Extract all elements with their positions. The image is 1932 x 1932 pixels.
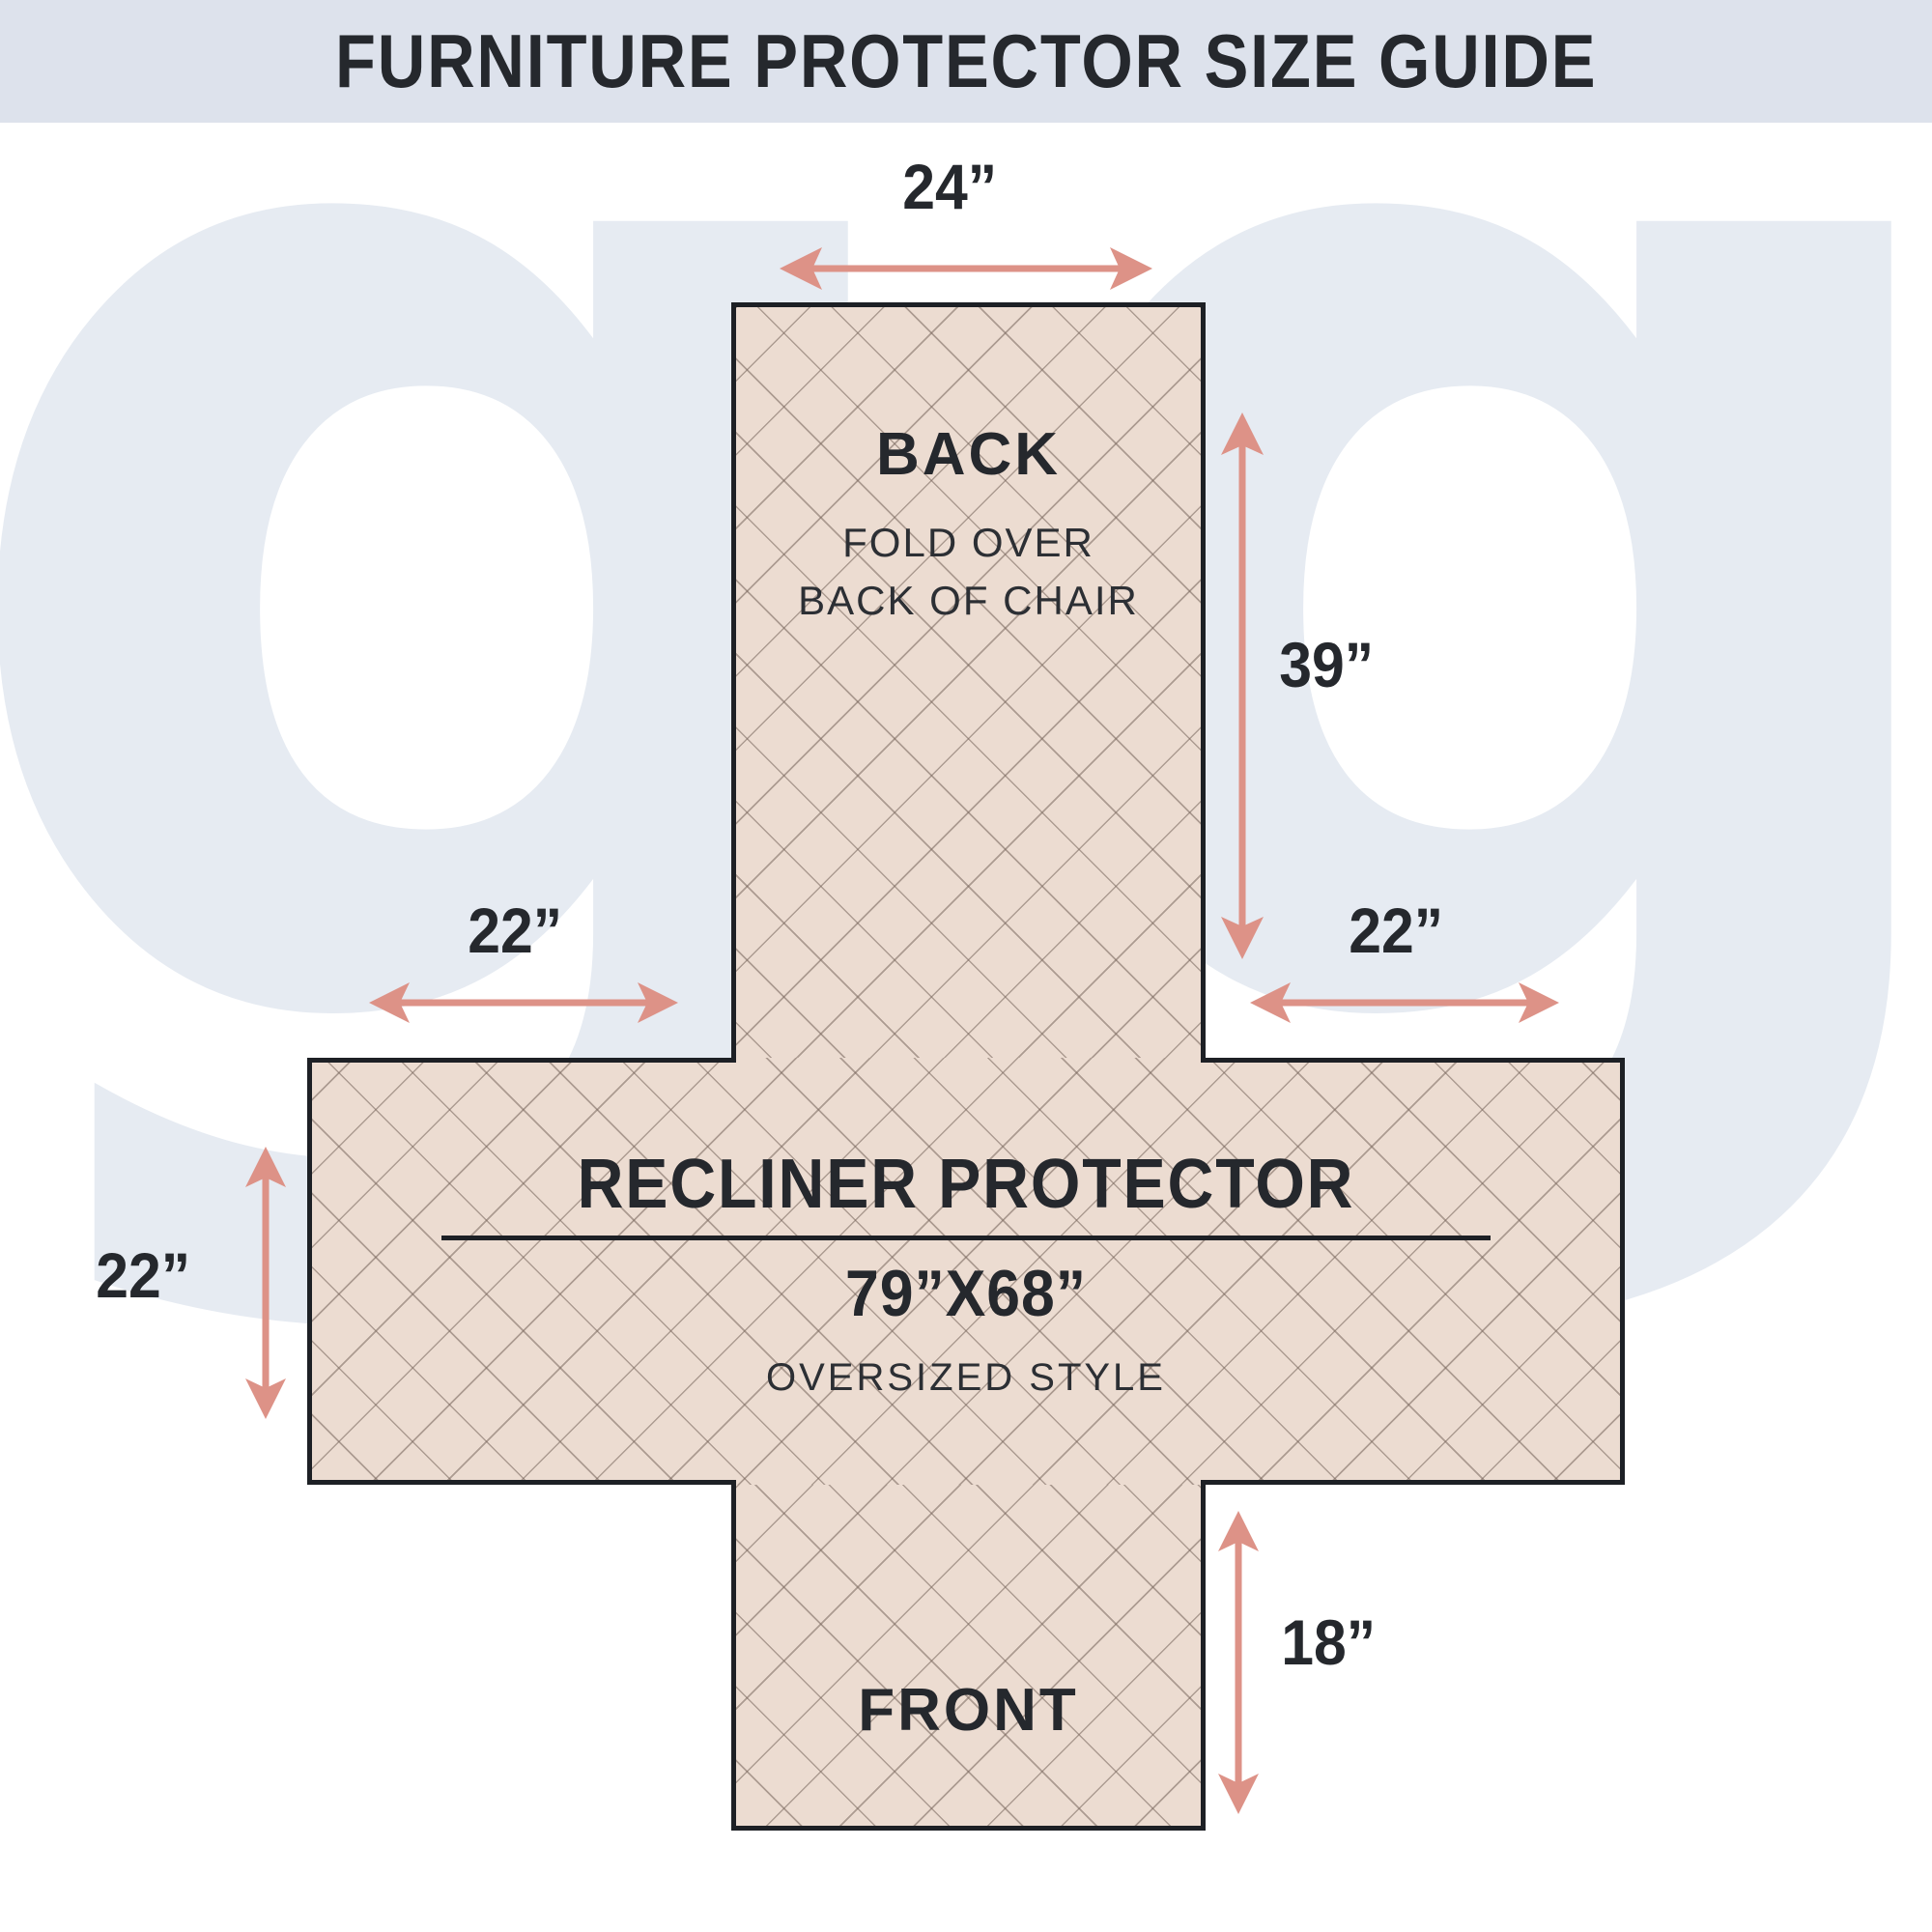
back-instruction-line-1: FOLD OVER bbox=[683, 514, 1254, 572]
dimension-arrow-back-height bbox=[1213, 411, 1271, 961]
dimension-label-back-width: 24” bbox=[902, 150, 997, 223]
dimension-arrow-front-height bbox=[1209, 1509, 1267, 1816]
product-dimensions: 79”X68” bbox=[360, 1256, 1573, 1331]
dimension-arrow-left-arm-width bbox=[367, 974, 680, 1032]
back-panel-label: BACK bbox=[731, 420, 1206, 489]
outline-arm-top-left bbox=[307, 1058, 736, 1063]
outline-arm-bottom-right bbox=[1201, 1480, 1625, 1485]
dimension-arrow-back-width bbox=[778, 240, 1154, 298]
product-info-block: RECLINER PROTECTOR 79”X68” OVERSIZED STY… bbox=[307, 1145, 1625, 1400]
back-panel-instruction: FOLD OVER BACK OF CHAIR bbox=[683, 514, 1254, 629]
dimension-arrow-arm-depth bbox=[237, 1145, 295, 1421]
front-panel-label: FRONT bbox=[731, 1676, 1206, 1745]
outline-arm-bottom-left bbox=[307, 1480, 736, 1485]
back-instruction-line-2: BACK OF CHAIR bbox=[683, 572, 1254, 630]
dimension-label-front-height: 18” bbox=[1281, 1605, 1376, 1679]
size-guide-page: g g FURNITURE PROTECTOR SIZE GUIDE BACK … bbox=[0, 0, 1932, 1932]
outline-stem-left-lower bbox=[731, 1480, 736, 1831]
divider-rule bbox=[441, 1236, 1491, 1240]
outline-back-top-edge bbox=[731, 302, 1206, 307]
outline-stem-left-upper bbox=[731, 302, 736, 1063]
dimension-label-arm-depth: 22” bbox=[96, 1238, 190, 1312]
product-style: OVERSIZED STYLE bbox=[307, 1356, 1625, 1400]
dimension-label-back-height: 39” bbox=[1279, 628, 1374, 701]
dimension-label-left-arm-width: 22” bbox=[468, 894, 562, 967]
outline-arm-top-right bbox=[1201, 1058, 1625, 1063]
outline-stem-right-lower bbox=[1201, 1480, 1206, 1831]
outline-front-bottom-edge bbox=[731, 1826, 1206, 1831]
outline-stem-right-upper bbox=[1201, 302, 1206, 1063]
dimension-label-right-arm-width: 22” bbox=[1349, 894, 1443, 967]
dimension-arrow-right-arm-width bbox=[1248, 974, 1561, 1032]
product-name: RECLINER PROTECTOR bbox=[360, 1145, 1573, 1224]
